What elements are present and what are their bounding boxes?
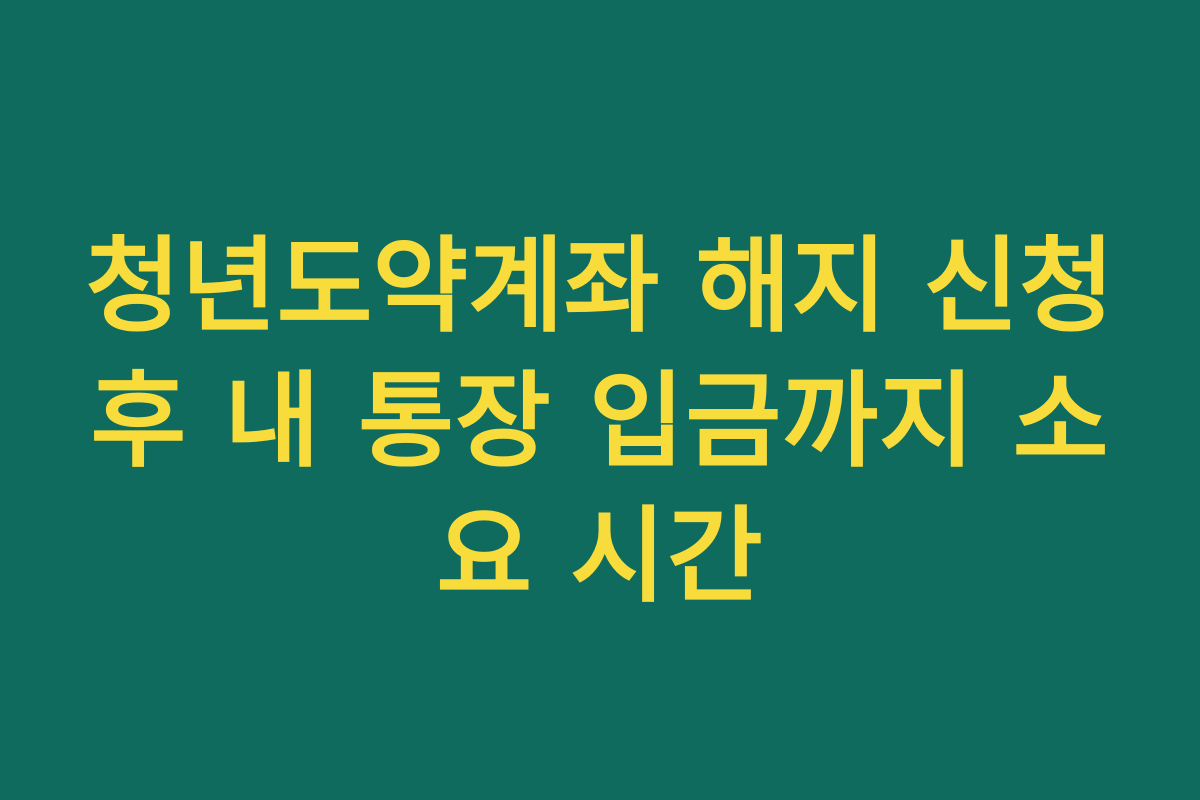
headline-line-3: 요 시간	[70, 489, 1130, 624]
headline-line-2: 후 내 통장 입금까지 소	[70, 354, 1130, 489]
headline-line-1: 청년도약계좌 해지 신청	[70, 219, 1130, 354]
banner-background: 청년도약계좌 해지 신청 후 내 통장 입금까지 소 요 시간	[0, 0, 1200, 800]
headline-block: 청년도약계좌 해지 신청 후 내 통장 입금까지 소 요 시간	[70, 219, 1130, 624]
